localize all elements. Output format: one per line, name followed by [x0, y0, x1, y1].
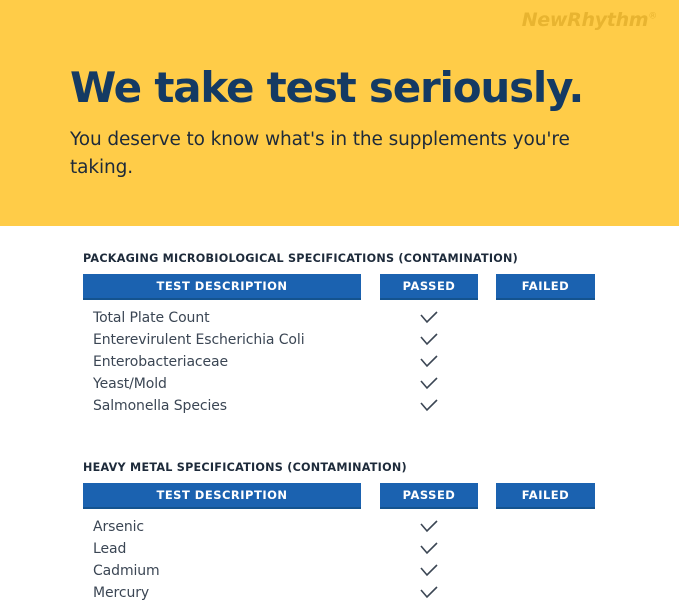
table-header-row: TEST DESCRIPTION PASSED FAILED: [83, 483, 595, 509]
hero-banner: NewRhythm® We take test seriously. You d…: [0, 0, 679, 226]
check-icon: [420, 377, 438, 391]
section-title: HEAVY METAL SPECIFICATIONS (CONTAMINATIO…: [83, 461, 595, 474]
section-title: PACKAGING MICROBIOLOGICAL SPECIFICATIONS…: [83, 252, 595, 265]
brand-logo: NewRhythm®: [522, 9, 657, 31]
test-name: Mercury: [93, 582, 149, 604]
passed-check-cell: [380, 560, 478, 582]
passed-check-cell: [380, 582, 478, 604]
test-name: Total Plate Count: [93, 307, 210, 329]
section-heavy-metal: HEAVY METAL SPECIFICATIONS (CONTAMINATIO…: [83, 461, 595, 604]
check-icon: [420, 520, 438, 534]
check-icon: [420, 586, 438, 600]
column-header-description: TEST DESCRIPTION: [83, 483, 361, 509]
table-row: Arsenic: [83, 516, 595, 538]
certificate-page: NewRhythm® We take test seriously. You d…: [0, 0, 679, 615]
table-row: Enterevirulent Escherichia Coli: [83, 329, 595, 351]
page-title: We take test seriously.: [70, 64, 583, 112]
brand-logo-text: NewRhythm: [522, 9, 649, 31]
column-header-description: TEST DESCRIPTION: [83, 274, 361, 300]
test-name: Lead: [93, 538, 126, 560]
registered-trademark-icon: ®: [648, 12, 657, 22]
check-icon: [420, 564, 438, 578]
column-header-passed: PASSED: [380, 483, 478, 509]
table-body: Arsenic Lead Cadmi: [83, 509, 595, 604]
column-header-failed: FAILED: [496, 483, 595, 509]
section-packaging-microbiological: PACKAGING MICROBIOLOGICAL SPECIFICATIONS…: [83, 252, 595, 417]
table-row: Enterobacteriaceae: [83, 351, 595, 373]
passed-check-cell: [380, 538, 478, 560]
test-name: Salmonella Species: [93, 395, 227, 417]
test-name: Yeast/Mold: [93, 373, 167, 395]
table-row: Lead: [83, 538, 595, 560]
table-row: Cadmium: [83, 560, 595, 582]
table-row: Yeast/Mold: [83, 373, 595, 395]
passed-check-cell: [380, 395, 478, 417]
passed-check-cell: [380, 307, 478, 329]
test-name: Enterevirulent Escherichia Coli: [93, 329, 304, 351]
table-row: Mercury: [83, 582, 595, 604]
page-subtitle: You deserve to know what's in the supple…: [70, 126, 610, 182]
test-name: Arsenic: [93, 516, 144, 538]
passed-check-cell: [380, 516, 478, 538]
check-icon: [420, 399, 438, 413]
table-body: Total Plate Count Enterevirulent Escheri…: [83, 300, 595, 417]
passed-check-cell: [380, 373, 478, 395]
check-icon: [420, 542, 438, 556]
passed-check-cell: [380, 351, 478, 373]
column-header-passed: PASSED: [380, 274, 478, 300]
table-header-row: TEST DESCRIPTION PASSED FAILED: [83, 274, 595, 300]
check-icon: [420, 355, 438, 369]
passed-check-cell: [380, 329, 478, 351]
test-name: Cadmium: [93, 560, 160, 582]
table-row: Salmonella Species: [83, 395, 595, 417]
column-header-failed: FAILED: [496, 274, 595, 300]
test-name: Enterobacteriaceae: [93, 351, 228, 373]
table-row: Total Plate Count: [83, 307, 595, 329]
check-icon: [420, 333, 438, 347]
check-icon: [420, 311, 438, 325]
